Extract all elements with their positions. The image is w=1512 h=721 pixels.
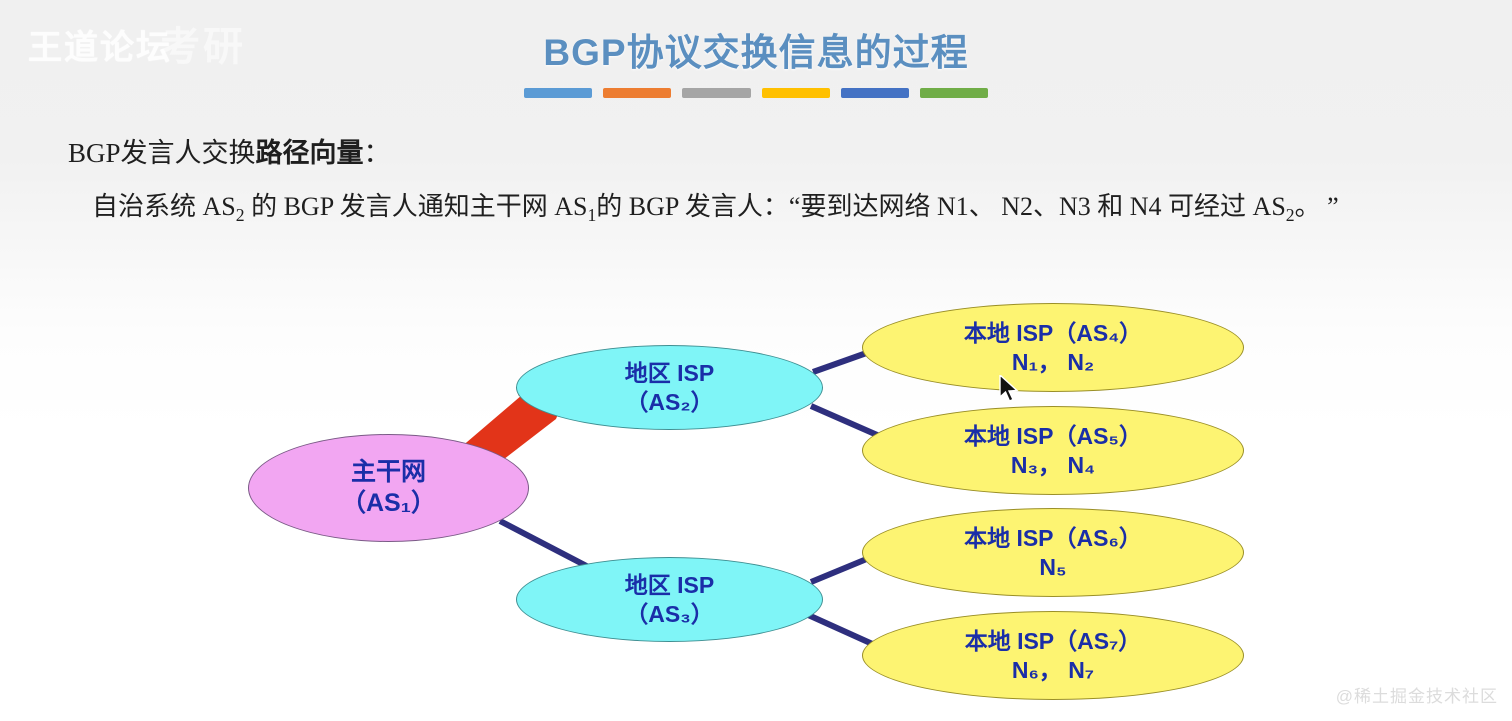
node-as7-label-line2: N₆， N₇ — [1012, 656, 1094, 685]
node-as5-local[interactable]: 本地 ISP（AS₅） N₃， N₄ — [862, 406, 1244, 495]
node-as4-label-line1: 本地 ISP（AS₄） — [964, 319, 1142, 348]
node-as6-local[interactable]: 本地 ISP（AS₆） N₅ — [862, 508, 1244, 597]
link-as2-as5 — [811, 406, 884, 438]
node-as2-regional[interactable]: 地区 ISP （AS₂） — [516, 345, 823, 430]
node-as2-label-line1: 地区 ISP — [625, 359, 714, 388]
node-as7-local[interactable]: 本地 ISP（AS₇） N₆， N₇ — [862, 611, 1244, 700]
node-as5-label-line1: 本地 ISP（AS₅） — [964, 422, 1142, 451]
node-as7-label-line1: 本地 ISP（AS₇） — [965, 627, 1142, 656]
node-as3-label-line1: 地区 ISP — [625, 571, 714, 600]
node-as1-label-line2: （AS₁） — [341, 488, 436, 519]
slide-canvas: 王道论坛 考研 @稀土掘金技术社区 BGP协议交换信息的过程 BGP发言人交换路… — [0, 0, 1512, 721]
node-as1-backbone[interactable]: 主干网 （AS₁） — [248, 434, 529, 542]
node-as2-label-line2: （AS₂） — [625, 388, 713, 417]
node-as6-label-line2: N₅ — [1039, 553, 1066, 582]
node-as3-label-line2: （AS₃） — [625, 600, 714, 629]
node-as6-label-line1: 本地 ISP（AS₆） — [964, 524, 1142, 553]
node-as3-regional[interactable]: 地区 ISP （AS₃） — [516, 557, 823, 642]
node-as1-label-line1: 主干网 — [351, 457, 426, 488]
node-as4-label-line2: N₁， N₂ — [1012, 348, 1094, 377]
node-as5-label-line2: N₃， N₄ — [1011, 451, 1095, 480]
node-as4-local[interactable]: 本地 ISP（AS₄） N₁， N₂ — [862, 303, 1244, 392]
